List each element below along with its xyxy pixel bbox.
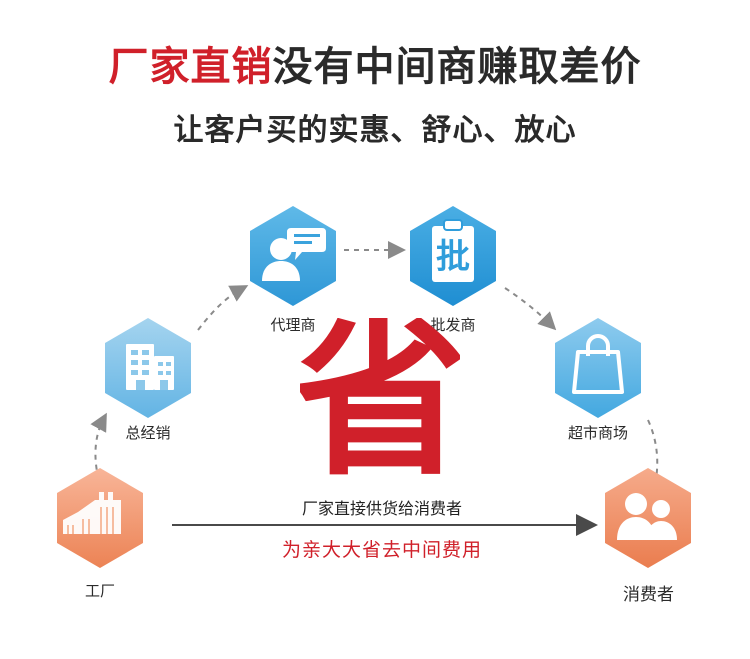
- node-label-consumer: 消费者: [596, 580, 701, 605]
- node-supermarket[interactable]: [555, 318, 641, 418]
- connector-distributor-to-agent: [198, 288, 243, 330]
- node-label-factory: 工厂: [50, 580, 150, 601]
- stamp-sheng: 省: [300, 318, 460, 478]
- supply-chain-diagram: 批 工厂 总经销 代理商 批发商 超市商场 消费者 厂家直接供货给消费: [0, 0, 750, 659]
- node-label-supermarket: 超市商场: [543, 422, 653, 443]
- connector-wholesaler-to-supermarket: [505, 288, 552, 326]
- node-label-distributor: 总经销: [98, 422, 198, 443]
- stamp-character: 省: [300, 318, 460, 478]
- caption-direct-supply: 厂家直接供货给消费者: [222, 495, 542, 519]
- node-agent[interactable]: [250, 206, 336, 306]
- svg-text:批: 批: [436, 237, 470, 277]
- node-consumer[interactable]: [605, 468, 691, 568]
- node-distributor[interactable]: [105, 318, 191, 418]
- caption-cost-saving: 为亲大大省去中间费用: [212, 535, 552, 562]
- node-factory[interactable]: [57, 468, 143, 568]
- node-wholesaler[interactable]: 批: [410, 206, 496, 306]
